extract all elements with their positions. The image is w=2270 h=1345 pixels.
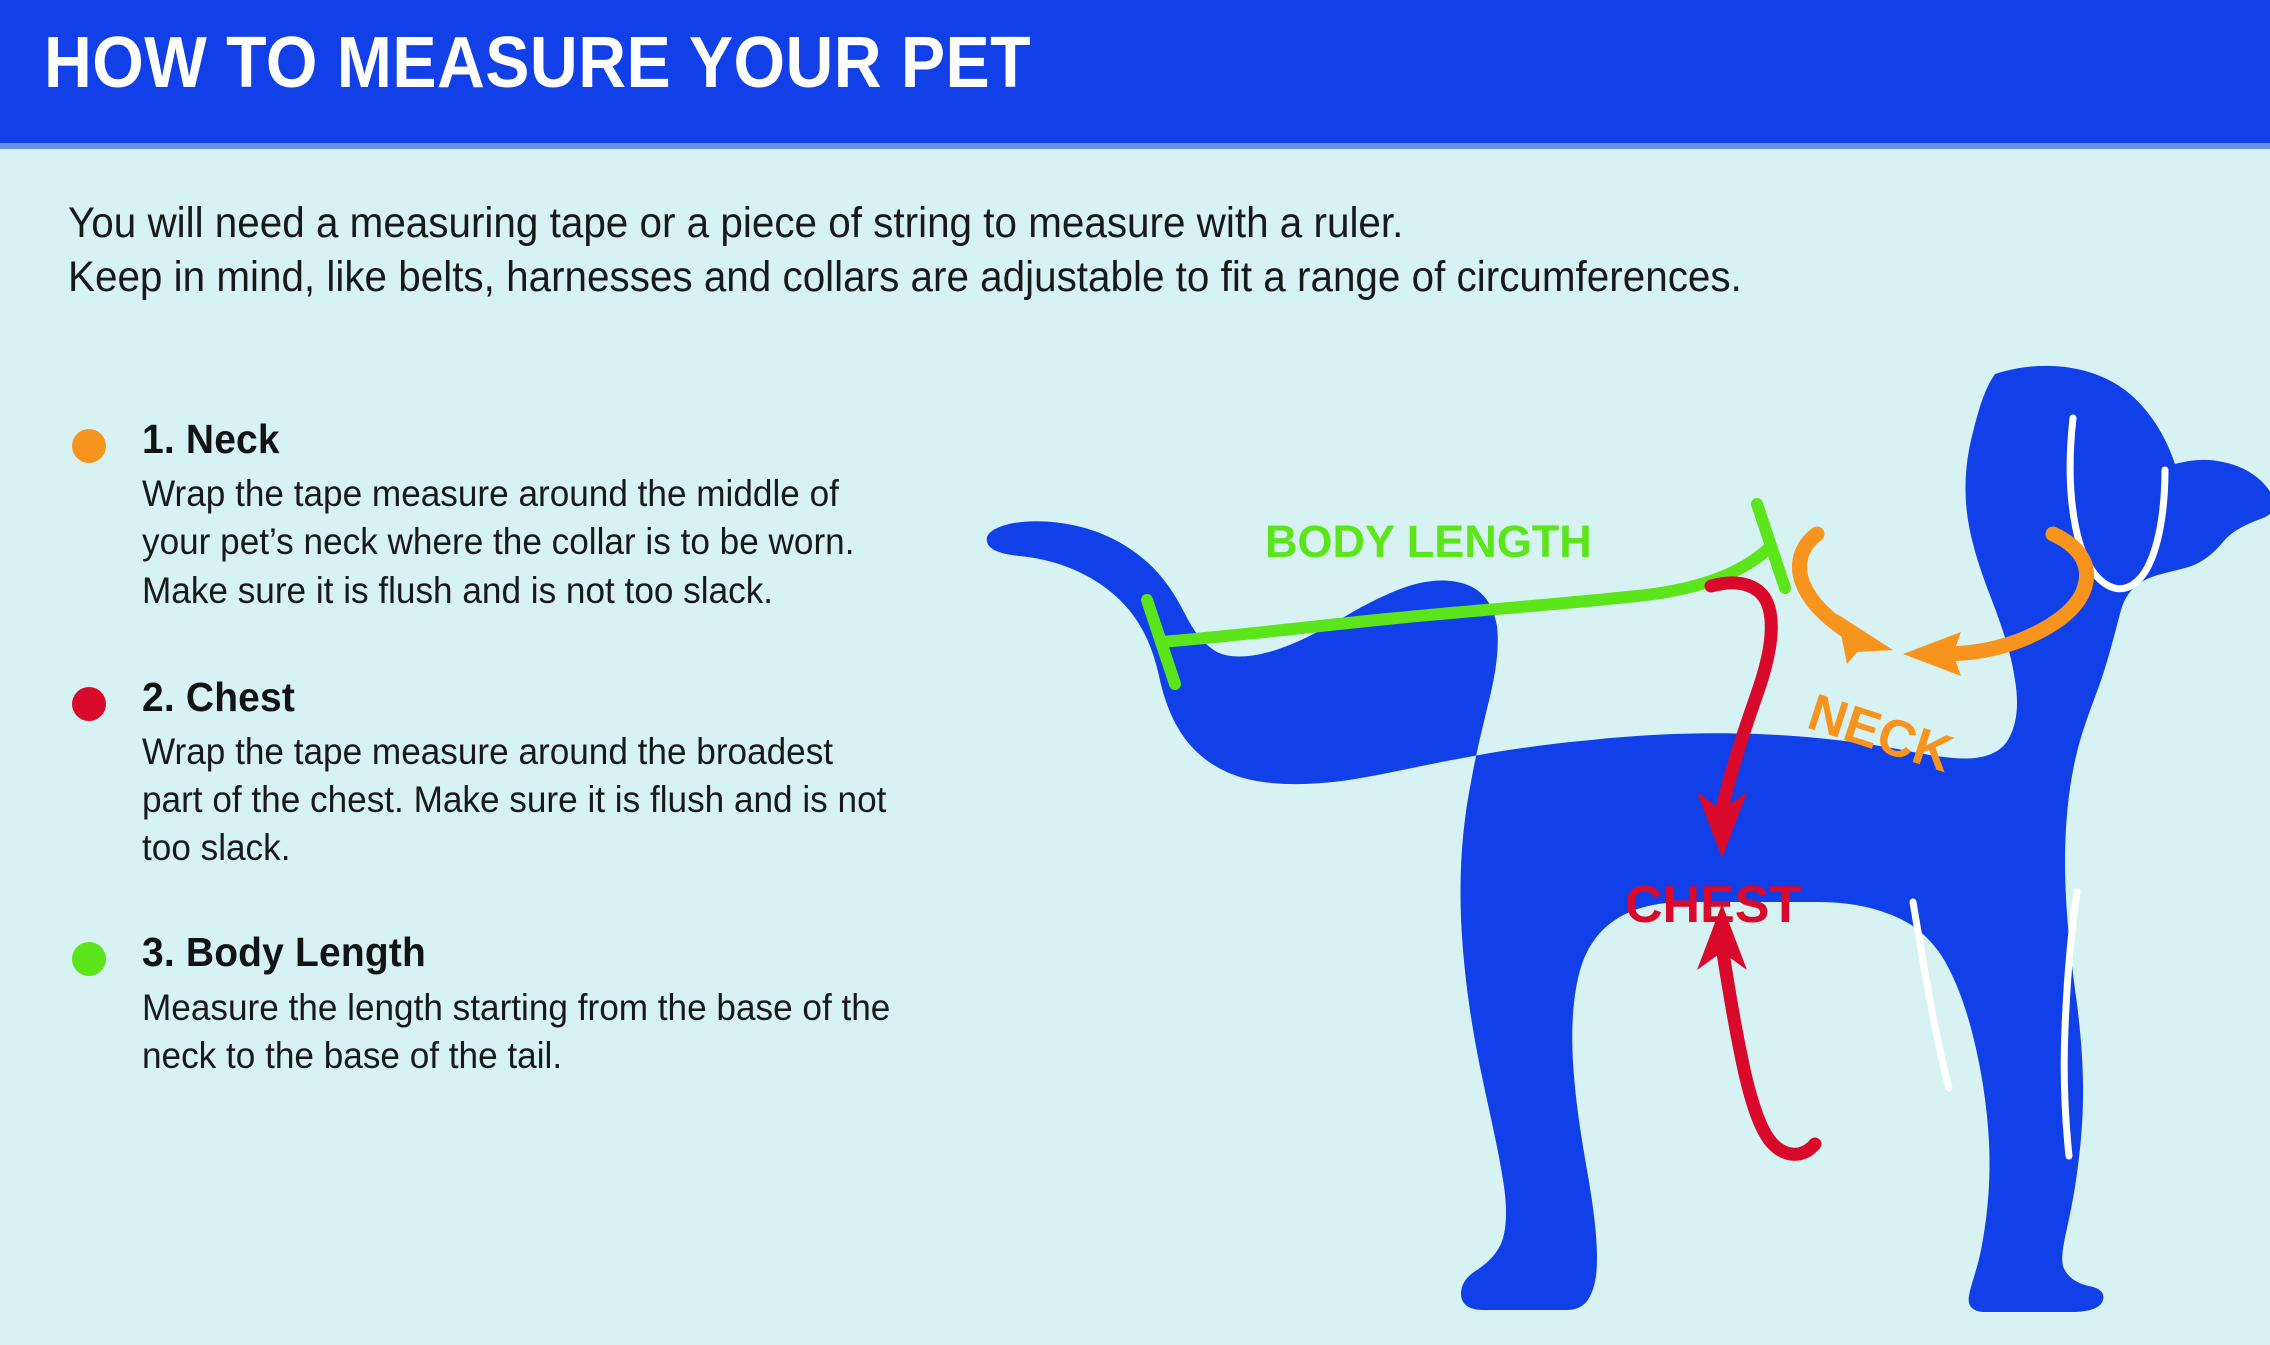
header-divider — [0, 143, 2270, 149]
step-title: 2. Chest — [142, 673, 1027, 721]
neck-arrowhead-left — [1837, 614, 1893, 664]
step-body-line: too slack. — [142, 824, 1027, 872]
step-body-line: Wrap the tape measure around the middle … — [142, 470, 1027, 518]
body-length-label: BODY LENGTH — [1265, 516, 1592, 567]
header-bar: HOW TO MEASURE YOUR PET — [0, 0, 2270, 143]
step-body-line: Wrap the tape measure around the broades… — [142, 728, 1027, 776]
intro-line-2: Keep in mind, like belts, harnesses and … — [68, 250, 1685, 304]
intro-line-1: You will need a measuring tape or a piec… — [68, 196, 1685, 250]
list-item: 3. Body Length Measure the length starti… — [64, 928, 1074, 1080]
step-body-line: Measure the length starting from the bas… — [142, 984, 1027, 1032]
step-body-line: Make sure it is flush and is not too sla… — [142, 567, 1027, 615]
step-title: 3. Body Length — [142, 928, 1027, 976]
step-body-line: your pet’s neck where the collar is to b… — [142, 518, 1027, 566]
step-body: Measure the length starting from the bas… — [142, 984, 1027, 1080]
step-body: Wrap the tape measure around the middle … — [142, 470, 1027, 614]
neck-arrowhead-right — [1903, 632, 1961, 676]
dog-silhouette-icon — [987, 366, 2270, 1312]
dog-measurement-diagram: BODY LENGTH NECK CHEST — [985, 352, 2270, 1345]
list-item: 2. Chest Wrap the tape measure around th… — [64, 673, 1074, 873]
step-body-line: part of the chest. Make sure it is flush… — [142, 776, 1027, 824]
step-title: 1. Neck — [142, 415, 1027, 463]
bullet-chest-icon — [72, 687, 106, 721]
chest-label: CHEST — [1625, 876, 1801, 934]
list-item: 1. Neck Wrap the tape measure around the… — [64, 415, 1074, 615]
step-body-line: neck to the base of the tail. — [142, 1032, 1027, 1080]
step-body: Wrap the tape measure around the broades… — [142, 728, 1027, 872]
bullet-body-length-icon — [72, 942, 106, 976]
measurement-steps-list: 1. Neck Wrap the tape measure around the… — [64, 415, 1074, 1138]
bullet-neck-icon — [72, 429, 106, 463]
page-title: HOW TO MEASURE YOUR PET — [44, 22, 1031, 104]
intro-paragraph: You will need a measuring tape or a piec… — [68, 196, 1685, 304]
